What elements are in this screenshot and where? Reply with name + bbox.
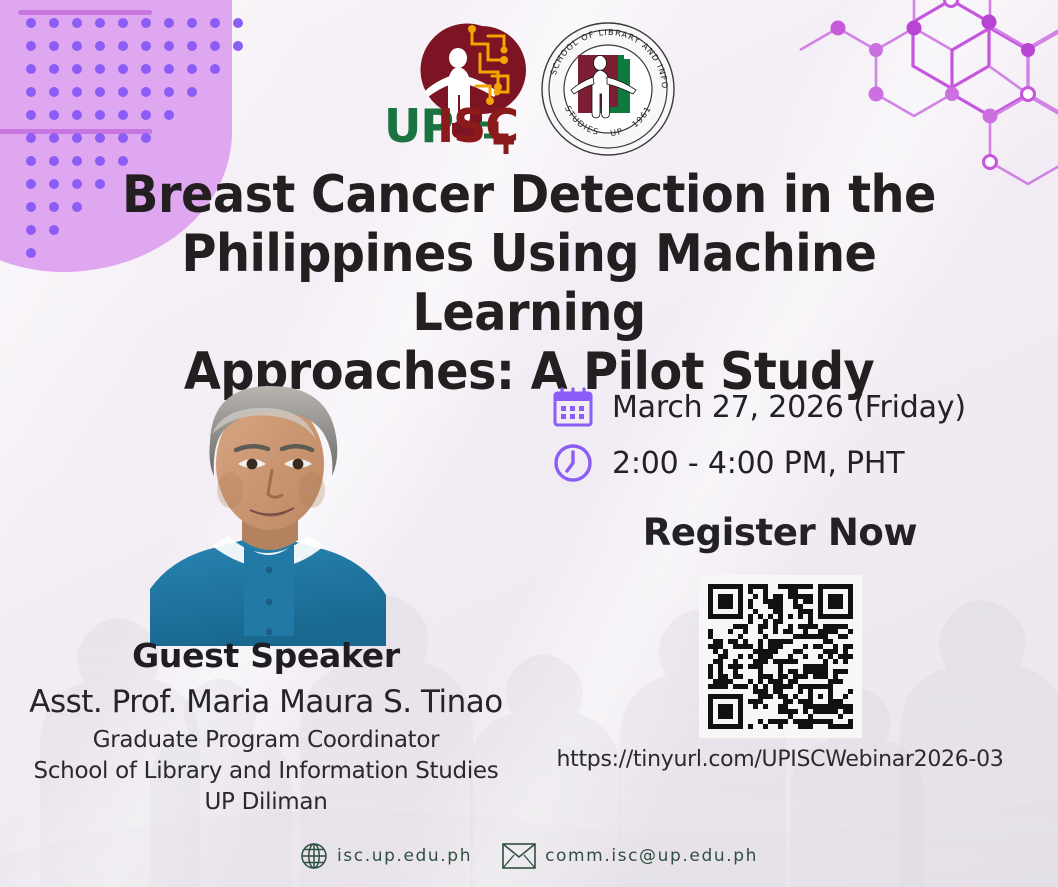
svg-text:ISC: ISC: [437, 99, 518, 153]
speaker-campus: UP Diliman: [8, 787, 524, 818]
envelope-icon: [502, 843, 536, 869]
speaker-role: Graduate Program Coordinator: [8, 725, 524, 756]
website-text: isc.up.edu.ph: [337, 846, 472, 866]
register-heading: Register Now: [552, 511, 1008, 554]
date-row: March 27, 2026 (Friday): [552, 386, 1022, 428]
website-contact[interactable]: isc.up.edu.ph: [300, 842, 472, 870]
globe-icon: [300, 842, 328, 870]
title-line-2: Philippines Using Machine Learning: [93, 225, 965, 343]
calendar-icon: [552, 386, 594, 428]
event-time: 2:00 - 4:00 PM, PHT: [612, 446, 904, 481]
speaker-block: Guest Speaker Asst. Prof. Maria Maura S.…: [8, 636, 524, 818]
qr-code-graphic: [708, 584, 853, 729]
event-date: March 27, 2026 (Friday): [612, 390, 966, 425]
email-text: comm.isc@up.edu.ph: [545, 846, 758, 866]
webinar-poster: UP ISC SCHOOL OF LIBRARY AND INFORMATION: [0, 0, 1058, 887]
title-line-1: Breast Cancer Detection in the: [93, 166, 965, 225]
email-contact[interactable]: comm.isc@up.edu.ph: [502, 843, 758, 869]
footer-contacts: isc.up.edu.ph comm.isc@up.edu.ph: [0, 842, 1058, 870]
guest-speaker-label: Guest Speaker: [8, 636, 524, 675]
slis-seal: SCHOOL OF LIBRARY AND INFORMATION STUDIE…: [538, 19, 678, 159]
registration-qr-code[interactable]: [699, 575, 862, 738]
event-details: March 27, 2026 (Friday) 2:00 - 4:00 PM, …: [552, 386, 1022, 498]
speaker-affiliation: School of Library and Information Studie…: [8, 756, 524, 787]
time-row: 2:00 - 4:00 PM, PHT: [552, 442, 1022, 484]
registration-url[interactable]: https://tinyurl.com/UPISCWebinar2026-03: [552, 747, 1008, 772]
clock-icon: [552, 442, 594, 484]
logo-row: UP ISC SCHOOL OF LIBRARY AND INFORMATION: [0, 14, 1058, 164]
speaker-name: Asst. Prof. Maria Maura S. Tinao: [8, 684, 524, 720]
upisc-logo: UP ISC: [380, 14, 532, 164]
speaker-portrait: [150, 358, 386, 646]
